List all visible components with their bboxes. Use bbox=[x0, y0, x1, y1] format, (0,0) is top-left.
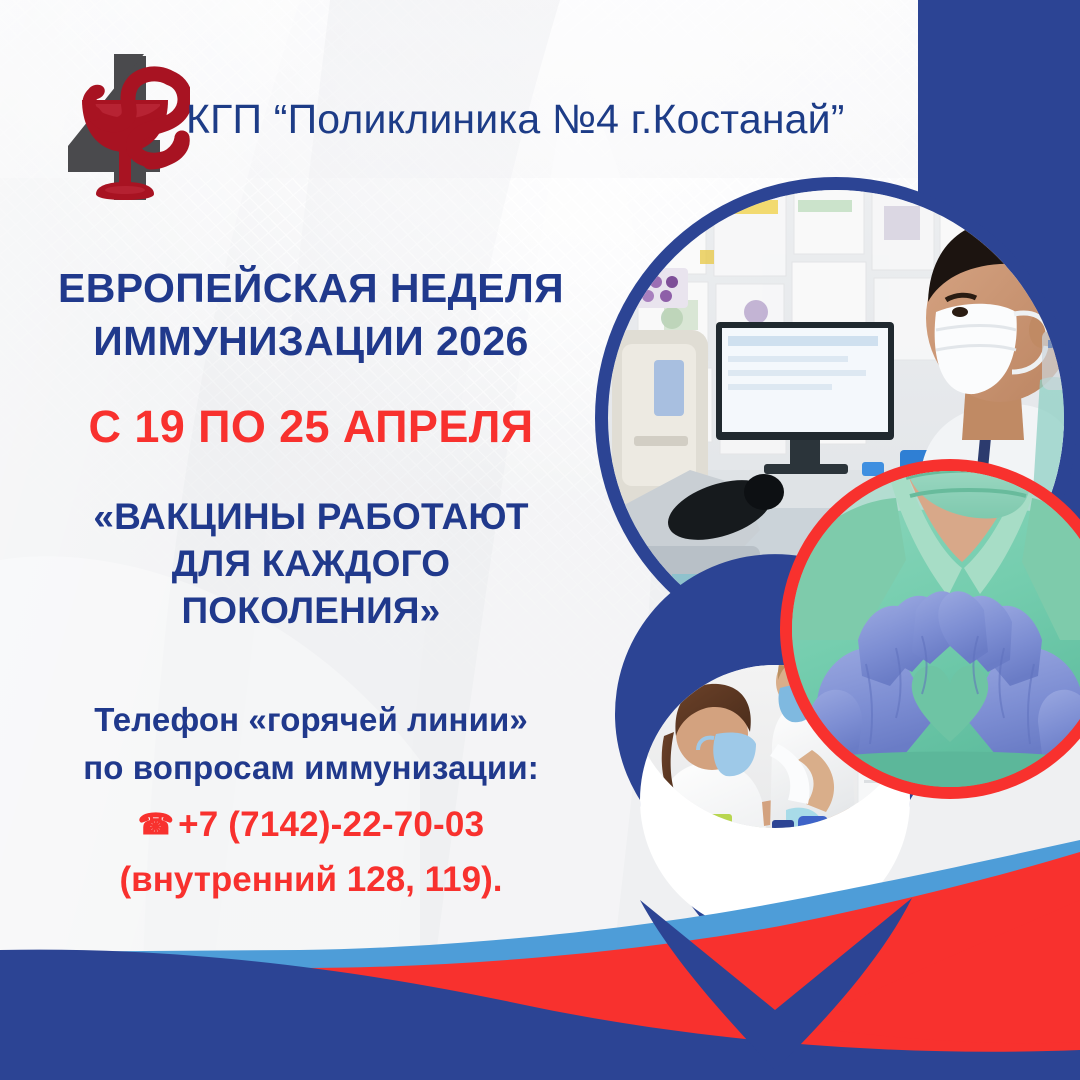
organization-title: КГП “Поликлиника №4 г.Костанай” bbox=[186, 96, 845, 143]
campaign-slogan: «ВАКЦИНЫ РАБОТАЮТ ДЛЯ КАЖДОГО ПОКОЛЕНИЯ» bbox=[0, 494, 622, 634]
headline: ЕВРОПЕЙСКАЯ НЕДЕЛЯ ИММУНИЗАЦИИ 2026 bbox=[0, 262, 622, 369]
campaign-dates: С 19 ПО 25 АПРЕЛЯ bbox=[0, 401, 622, 453]
telephone-icon: ☎ bbox=[138, 809, 174, 841]
immunization-week-poster: КГП “Поликлиника №4 г.Костанай” ЕВРОПЕЙС… bbox=[0, 0, 1080, 1080]
slogan-line-2: ДЛЯ КАЖДОГО bbox=[0, 541, 622, 588]
hotline-line-1: Телефон «горячей линии» bbox=[0, 696, 622, 744]
hotline-line-2: по вопросам иммунизации: bbox=[0, 744, 622, 792]
logo-svg bbox=[44, 48, 190, 200]
headline-line-2: ИММУНИЗАЦИИ 2026 bbox=[0, 315, 622, 368]
poster-copy-block: ЕВРОПЕЙСКАЯ НЕДЕЛЯ ИММУНИЗАЦИИ 2026 С 19… bbox=[0, 262, 622, 904]
slogan-line-3: ПОКОЛЕНИЯ» bbox=[0, 588, 622, 635]
phone-number[interactable]: +7 (7142)-22-70-03 bbox=[178, 805, 484, 844]
clinic-logo bbox=[44, 48, 190, 200]
hotline-phone[interactable]: ☎+7 (7142)-22-70-03 bbox=[0, 801, 622, 849]
headline-line-1: ЕВРОПЕЙСКАЯ НЕДЕЛЯ bbox=[0, 262, 622, 315]
hotline-heading: Телефон «горячей линии» по вопросам имму… bbox=[0, 696, 622, 791]
hotline-extension: (внутренний 128, 119). bbox=[0, 856, 622, 904]
slogan-line-1: «ВАКЦИНЫ РАБОТАЮТ bbox=[0, 494, 622, 541]
